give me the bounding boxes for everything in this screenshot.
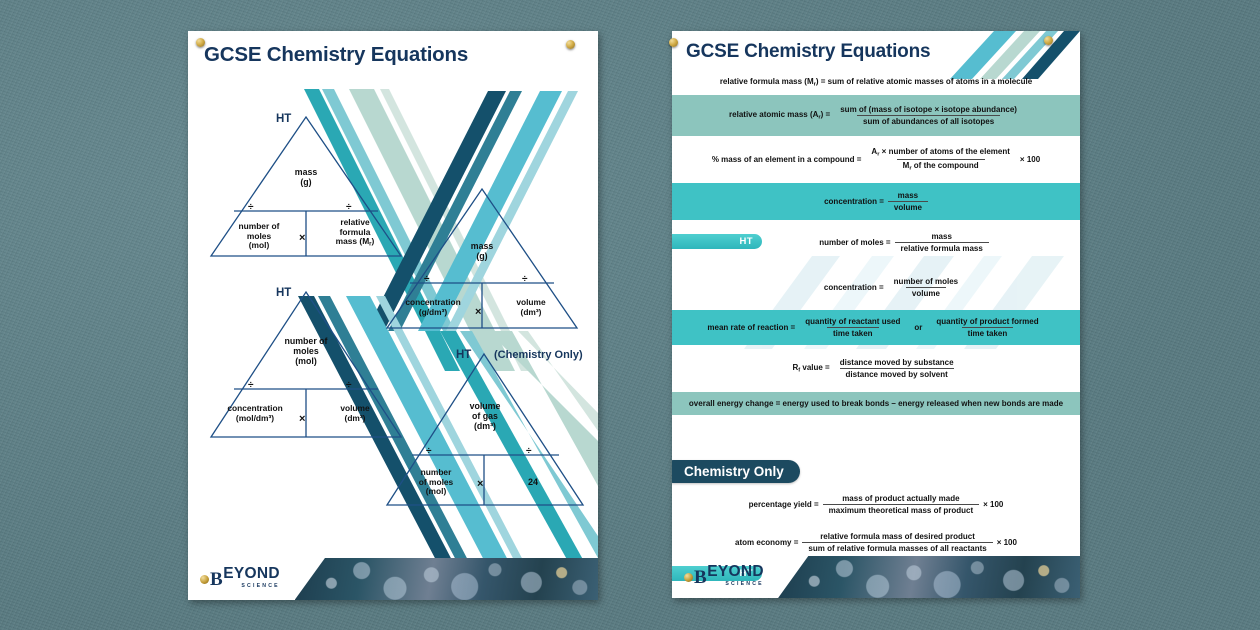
row-overall-energy-change: overall energy change = energy used to b…	[672, 392, 1080, 415]
triangle-1-br-line3-end: )	[372, 236, 375, 246]
divide-symbol-right-4: ÷	[526, 446, 532, 457]
rf-sub: f	[798, 368, 800, 374]
triangle-3-top-line2: moles	[293, 346, 318, 356]
logo-subtitle-left: SCIENCE	[241, 583, 279, 589]
atom-lhs: atom economy =	[735, 538, 798, 547]
ht-label-triangle-1: HT	[276, 113, 291, 125]
conc1-denominator: volume	[888, 201, 928, 212]
poster-left[interactable]: GCSE Chemistry Equations HT mass (g) ÷ ÷…	[188, 31, 598, 600]
ram-lhs: relative atomic mass (A	[729, 110, 818, 119]
yield-numerator: mass of product actually made	[836, 494, 965, 504]
ram-denominator: sum of abundances of all isotopes	[857, 115, 1000, 126]
triangle-2-bl-line2: (g/dm³)	[419, 307, 447, 317]
row-concentration-moles-volume: concentration = number of moles volume	[672, 264, 1080, 310]
multiply-symbol-2: ×	[475, 306, 481, 318]
push-pin-right-poster-right	[1044, 36, 1053, 45]
triangle-1-top-line2: (g)	[300, 177, 311, 187]
mrr-fraction-1: quantity of reactant used time taken	[799, 317, 906, 338]
push-pin-right-poster-left	[669, 38, 678, 47]
conc1-numerator: mass	[892, 191, 924, 201]
mrr-numerator-2: quantity of product formed	[930, 317, 1044, 327]
beyond-science-logo-right[interactable]: B EYOND SCIENCE	[684, 565, 764, 587]
poster-right[interactable]: GCSE Chemistry Equations relative formul…	[672, 31, 1080, 598]
divide-symbol-left-2: ÷	[424, 274, 430, 285]
left-poster-footer: B EYOND SCIENCE	[188, 558, 598, 600]
chemistry-only-badge: Chemistry Only	[672, 460, 800, 483]
rf-numerator: distance moved by substance	[834, 358, 960, 368]
triangle-1-br-line1: relative	[340, 217, 369, 227]
yield-fraction: mass of product actually made maximum th…	[823, 494, 979, 515]
divide-symbol-right-3: ÷	[346, 380, 352, 391]
conc1-fraction: mass volume	[888, 191, 928, 212]
atom-numerator: relative formula mass of desired product	[814, 532, 981, 542]
left-poster-title: GCSE Chemistry Equations	[188, 31, 598, 67]
ht-badge-number-of-moles: HT	[672, 234, 762, 249]
triangle-2-top-line1: mass	[471, 241, 494, 251]
row-mean-rate-of-reaction: mean rate of reaction = quantity of reac…	[672, 310, 1080, 345]
triangle-2-br-line2: (dm³)	[521, 307, 542, 317]
ram-lhs-end: ) =	[821, 110, 831, 119]
divide-symbol-left-1: ÷	[248, 202, 254, 213]
triangle-moles-concentration-volume: number of moles (mol) ÷ ÷ concentration …	[208, 289, 404, 439]
row-relative-atomic-mass: relative atomic mass (Ar) = sum of (mass…	[672, 95, 1080, 136]
push-pin-top-left	[196, 38, 205, 47]
right-poster-footer: B EYOND SCIENCE	[672, 556, 1080, 598]
row-percentage-yield: percentage yield = mass of product actua…	[672, 485, 1080, 523]
mrr-or-word: or	[910, 323, 926, 332]
mrr-numerator-1: quantity of reactant used	[799, 317, 906, 327]
triangle-3-br-line2: (dm³)	[345, 413, 366, 423]
pmass-den-sub: r	[909, 166, 911, 172]
triangle-3-bl-line1: concentration	[227, 403, 282, 413]
moles-lhs: number of moles =	[819, 238, 890, 247]
yield-tail: × 100	[983, 500, 1003, 509]
logo-subtitle-right: SCIENCE	[725, 581, 763, 587]
atom-denominator: sum of relative formula masses of all re…	[802, 542, 992, 553]
mrr-denominator-2: time taken	[962, 327, 1014, 338]
ram-fraction: sum of (mass of isotope × isotope abunda…	[834, 105, 1023, 126]
yield-denominator: maximum theoretical mass of product	[823, 504, 979, 515]
pmass-numerator: × number of atoms of the element	[882, 147, 1010, 156]
rf-denominator: distance moved by solvent	[840, 368, 954, 379]
pmass-lhs: % mass of an element in a compound =	[712, 155, 862, 164]
pmass-denominator: of the compound	[914, 161, 979, 170]
multiply-symbol-4: ×	[477, 478, 483, 490]
triangle-3-bl-line2: (mol/dm³)	[236, 413, 274, 423]
oec-text: overall energy change = energy used to b…	[689, 399, 1063, 408]
triangle-4-bl-line3: (mol)	[426, 486, 446, 496]
atom-fraction: relative formula mass of desired product…	[802, 532, 992, 553]
triangle-gas-volume-moles-24: volume of gas (dm³) ÷ ÷ number of moles …	[384, 351, 590, 509]
yield-lhs: percentage yield =	[749, 500, 819, 509]
chemistry-only-badge-label: Chemistry Only	[684, 464, 784, 479]
conc2-denominator: volume	[906, 287, 946, 298]
triangle-3-top-line1: number of	[284, 336, 327, 346]
mrr-denominator-1: time taken	[827, 327, 879, 338]
logo-dot-icon-right	[684, 573, 693, 582]
triangle-moles-mass-mr: mass (g) ÷ ÷ number of moles (mol) × rel…	[208, 114, 404, 258]
ram-numerator: sum of (mass of isotope × isotope abunda…	[834, 105, 1023, 115]
triangle-4-br-line1: 24	[528, 477, 538, 487]
row-number-of-moles: HT number of moles = mass relative formu…	[672, 220, 1080, 264]
chemistry-only-label-triangle-4: (Chemistry Only)	[494, 349, 583, 361]
row-concentration-mass-volume: concentration = mass volume	[672, 183, 1080, 220]
triangle-1-top-line1: mass	[295, 167, 318, 177]
pmass-num-sub: r	[877, 152, 879, 158]
triangle-1-br-line3: mass (M	[336, 236, 370, 246]
multiply-symbol-3: ×	[299, 413, 305, 425]
triangle-1-bl-line1: number of	[239, 221, 280, 231]
divide-symbol-right-1: ÷	[346, 202, 352, 213]
triangle-1-bl-line3: (mol)	[249, 240, 269, 250]
ht-label-triangle-4: HT	[456, 349, 471, 361]
bubbles-photo-strip-left	[295, 558, 598, 600]
divide-symbol-left-3: ÷	[248, 380, 254, 391]
ht-badge-label-1: HT	[740, 236, 753, 247]
row-relative-formula-mass: relative formula mass (Mr) = sum of rela…	[672, 69, 1080, 95]
triangle-mass-concentration-volume: mass (g) ÷ ÷ concentration (g/dm³) × vol…	[384, 186, 580, 330]
triangle-3-br-line1: volume	[340, 403, 369, 413]
conc2-lhs: concentration =	[824, 283, 884, 292]
logo-initial-left: B	[210, 571, 222, 588]
right-poster-title: GCSE Chemistry Equations	[672, 31, 1080, 63]
triangle-4-top-line2: of gas	[472, 411, 498, 421]
divide-symbol-left-4: ÷	[426, 446, 432, 457]
triangle-2-bl-line1: concentration	[405, 297, 460, 307]
triangle-2-top-line2: (g)	[476, 251, 487, 261]
rf-fraction: distance moved by substance distance mov…	[834, 358, 960, 379]
row-rf-value: Rf value = distance moved by substance d…	[672, 345, 1080, 392]
moles-fraction: mass relative formula mass	[895, 232, 989, 253]
rfm-lhs-end: ) = sum of relative atomic masses of ato…	[816, 77, 1032, 86]
pmass-tail: × 100	[1020, 155, 1040, 164]
pmass-fraction: Ar × number of atoms of the element Mr o…	[865, 147, 1016, 171]
logo-word-right: EYOND	[707, 565, 764, 580]
triangle-3-top-line3: (mol)	[295, 356, 317, 366]
rfm-lhs: relative formula mass (M	[720, 77, 814, 86]
beyond-science-logo-left[interactable]: B EYOND SCIENCE	[200, 567, 280, 589]
logo-initial-right: B	[694, 569, 706, 586]
push-pin-top-right-of-left-poster	[566, 40, 575, 49]
logo-dot-icon-left	[200, 575, 209, 584]
bubbles-photo-strip-right	[778, 556, 1080, 598]
moles-numerator: mass	[925, 232, 957, 242]
ht-label-triangle-3: HT	[276, 287, 291, 299]
triangle-1-bl-line2: moles	[247, 231, 271, 241]
triangle-4-bl-line1: number	[421, 467, 452, 477]
divide-symbol-right-2: ÷	[522, 274, 528, 285]
mrr-fraction-2: quantity of product formed time taken	[930, 317, 1044, 338]
triangle-4-top-line1: volume	[470, 401, 501, 411]
conc2-numerator: number of moles	[888, 277, 964, 287]
triangle-4-bl-line2: of moles	[419, 477, 453, 487]
multiply-symbol-1: ×	[299, 232, 305, 244]
conc2-fraction: number of moles volume	[888, 277, 964, 298]
triangle-4-top-line3: (dm³)	[474, 421, 496, 431]
atom-tail: × 100	[997, 538, 1017, 547]
mrr-lhs: mean rate of reaction =	[707, 323, 795, 332]
logo-word-left: EYOND	[223, 567, 280, 582]
triangle-1-br-line2: formula	[340, 227, 371, 237]
row-percent-mass-of-element: % mass of an element in a compound = Ar …	[672, 136, 1080, 183]
conc1-lhs: concentration =	[824, 197, 884, 206]
triangle-2-br-line1: volume	[516, 297, 545, 307]
rf-lhs-end: value =	[802, 363, 829, 372]
moles-denominator: relative formula mass	[895, 242, 989, 253]
